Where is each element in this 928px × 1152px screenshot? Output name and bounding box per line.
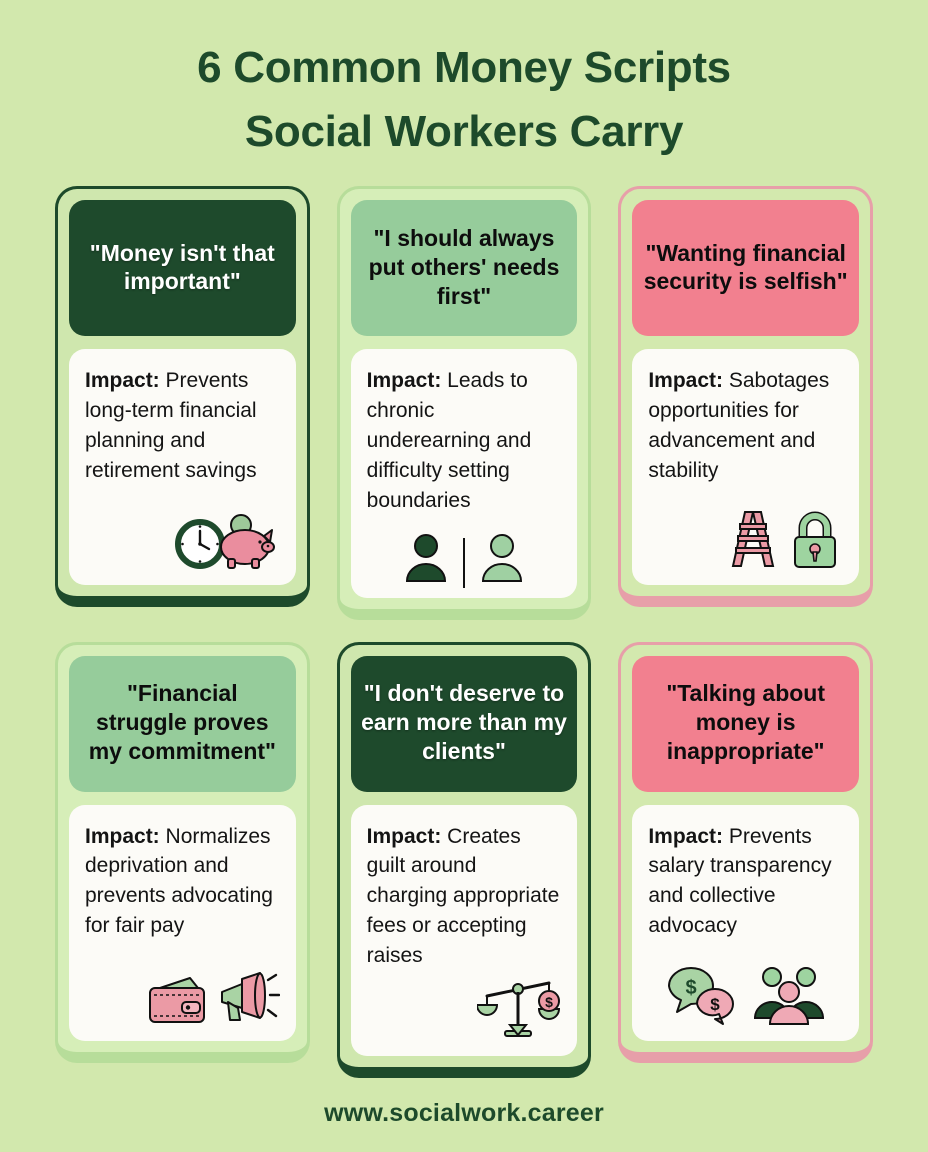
ladder-icon	[727, 508, 779, 575]
card-impact-box: Impact: Leads to chronic underearning an…	[351, 349, 578, 597]
impact-label: Impact:	[85, 825, 160, 848]
card-impact-text: Impact: Sabotages opportunities for adva…	[648, 366, 843, 485]
megaphone-icon	[216, 970, 280, 1031]
card-script-header: "I don't deserve to earn more than my cl…	[351, 656, 578, 792]
impact-label: Impact:	[648, 369, 723, 392]
card-script-header: "Talking about money is inappropriate"	[632, 656, 859, 792]
card-impact-text: Impact: Leads to chronic underearning an…	[367, 366, 562, 515]
padlock-icon	[787, 508, 843, 575]
card-icon-row	[367, 516, 562, 588]
page-title-line-2: Social Workers Carry	[0, 100, 928, 164]
card-dont-deserve-more-than-clients: "I don't deserve to earn more than my cl…	[337, 642, 592, 1078]
person-dark-icon	[403, 531, 449, 588]
people-group-icon	[749, 964, 829, 1031]
impact-label: Impact:	[648, 825, 723, 848]
card-struggle-proves-commitment: "Financial struggle proves my commitment…	[55, 642, 310, 1063]
card-icon-row	[85, 959, 280, 1031]
card-impact-text: Impact: Creates guilt around charging ap…	[367, 822, 562, 971]
person-light-icon	[479, 531, 525, 588]
svg-text:$: $	[710, 995, 720, 1014]
page-title-line-1: 6 Common Money Scripts	[0, 36, 928, 100]
card-impact-text: Impact: Prevents long-term financial pla…	[85, 366, 280, 485]
speech-bubbles-dollar-icon: $ $	[663, 964, 741, 1031]
card-money-isnt-important: "Money isn't that important" Impact: Pre…	[55, 186, 310, 607]
svg-text:$: $	[545, 994, 553, 1010]
card-script-header: "Money isn't that important"	[69, 200, 296, 336]
card-script-header: "I should always put others' needs first…	[351, 200, 578, 336]
card-impact-box: Impact: Prevents long-term financial pla…	[69, 349, 296, 585]
card-script-header: "Financial struggle proves my commitment…	[69, 656, 296, 792]
piggy-bank-icon	[212, 514, 280, 575]
svg-text:$: $	[685, 977, 696, 999]
footer-url[interactable]: www.socialwork.career	[0, 1099, 928, 1128]
card-icon-row	[85, 503, 280, 575]
card-script-header: "Wanting financial security is selfish"	[632, 200, 859, 336]
card-impact-box: Impact: Normalizes deprivation and preve…	[69, 805, 296, 1041]
impact-label: Impact:	[367, 369, 442, 392]
card-icon-row	[648, 502, 843, 575]
money-scripts-grid: "Money isn't that important" Impact: Pre…	[0, 186, 928, 1077]
card-security-is-selfish: "Wanting financial security is selfish" …	[618, 186, 873, 607]
impact-label: Impact:	[85, 369, 160, 392]
dollar-coin-icon: $	[539, 991, 559, 1011]
card-others-needs-first: "I should always put others' needs first…	[337, 186, 592, 619]
wallet-icon	[146, 974, 208, 1031]
balance-scale-icon: $	[477, 977, 561, 1046]
card-impact-box: Impact: Sabotages opportunities for adva…	[632, 349, 859, 585]
card-impact-text: Impact: Prevents salary transparency and…	[648, 822, 843, 941]
card-money-talk-inappropriate: "Talking about money is inappropriate" I…	[618, 642, 873, 1063]
card-icon-row: $	[367, 971, 562, 1046]
card-icon-row: $ $	[648, 958, 843, 1031]
card-impact-box: Impact: Creates guilt around charging ap…	[351, 805, 578, 1056]
page-title: 6 Common Money Scripts Social Workers Ca…	[0, 0, 928, 164]
card-impact-text: Impact: Normalizes deprivation and preve…	[85, 822, 280, 941]
card-impact-box: Impact: Prevents salary transparency and…	[632, 805, 859, 1041]
impact-label: Impact:	[367, 825, 442, 848]
divider-icon	[463, 538, 465, 588]
